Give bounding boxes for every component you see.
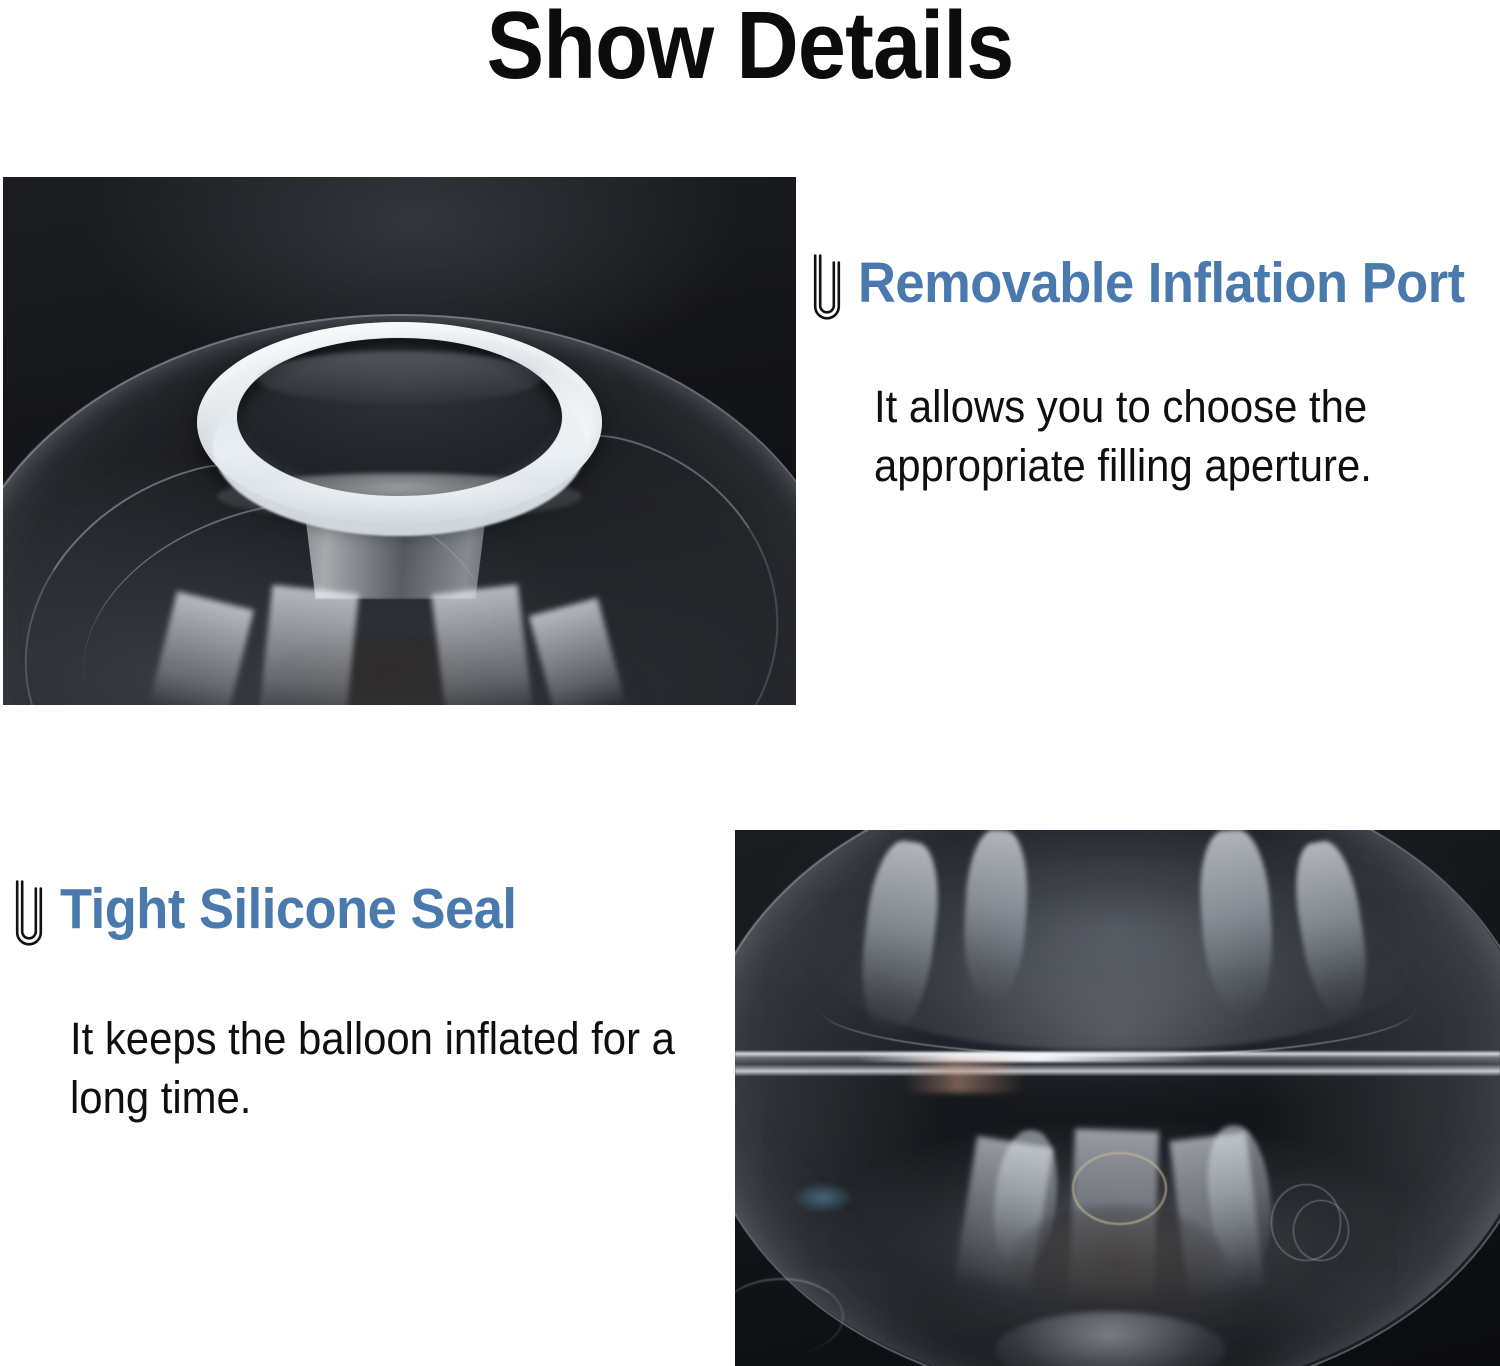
feature-title: Removable Inflation Port: [858, 254, 1465, 312]
feature-block-tight-silicone-seal: Tight Silicone Seal It keeps the balloon…: [14, 874, 714, 1127]
light-panel-reflection: [431, 584, 534, 705]
paperclip-icon: [14, 878, 44, 952]
bubble-artifact: [1293, 1200, 1349, 1261]
feature-description: It allows you to choose the appropriate …: [874, 378, 1488, 495]
paperclip-icon: [812, 252, 842, 326]
page-title: Show Details: [75, 0, 1425, 98]
inflation-port-opening-gloss: [257, 351, 542, 404]
feature-block-removable-inflation-port: Removable Inflation Port It allows you t…: [812, 248, 1500, 495]
warm-reflection: [903, 1060, 1025, 1092]
teal-reflection: [796, 1184, 850, 1211]
inflation-port-highlight: [217, 473, 582, 521]
feature-image-removable-inflation-port: [3, 177, 796, 705]
feature-title: Tight Silicone Seal: [60, 880, 517, 938]
light-panel-reflection: [258, 585, 359, 705]
feature-image-tight-silicone-seal: [735, 830, 1500, 1366]
feature-description: It keeps the balloon inflated for a long…: [70, 1010, 702, 1127]
feature-heading-row: Removable Inflation Port: [812, 248, 1500, 326]
feature-heading-row: Tight Silicone Seal: [14, 874, 714, 952]
inner-ring-reflection: [1072, 1152, 1168, 1226]
